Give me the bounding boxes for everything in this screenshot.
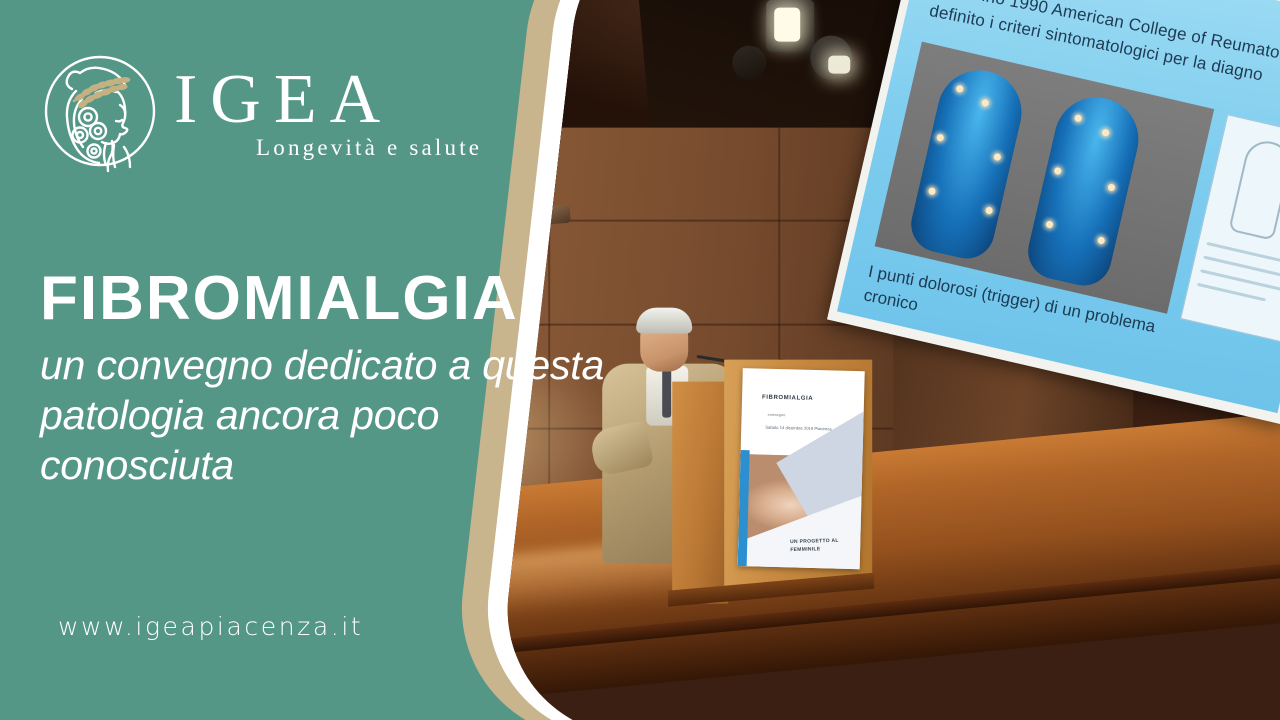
website-url[interactable]: www.igeapiacenza.it bbox=[58, 612, 363, 641]
podium-poster-subtitle: convegno bbox=[768, 413, 786, 417]
podium: FIBROMIALGIA convegno Sabato 14 dicembre… bbox=[672, 360, 868, 610]
ceiling-fixture-icon bbox=[732, 46, 766, 80]
stage-light-icon-2 bbox=[828, 56, 850, 74]
body-figure-front-icon bbox=[906, 62, 1030, 264]
body-figure-back-icon bbox=[1023, 89, 1147, 291]
page-subtitle: un convegno dedicato a questa patologia … bbox=[40, 340, 620, 490]
page-title: FIBROMIALGIA bbox=[40, 268, 620, 330]
podium-poster: FIBROMIALGIA convegno Sabato 14 dicembre… bbox=[738, 368, 865, 569]
stage-light-icon bbox=[774, 8, 800, 42]
headline-group: FIBROMIALGIA un convegno dedicato a ques… bbox=[40, 268, 620, 490]
goddess-profile-wheat-crown-icon bbox=[36, 47, 164, 175]
podium-poster-footer: UN PROGETTO AL FEMMINILE bbox=[790, 537, 856, 554]
brand-logo[interactable]: IGEA Longevità e salute bbox=[36, 46, 436, 176]
brand-name: IGEA bbox=[168, 67, 482, 134]
podium-poster-title: FIBROMIALGIA bbox=[762, 395, 813, 402]
podium-poster-detail: Sabato 14 dicembre 2019 Piacenza bbox=[765, 425, 845, 433]
poster-canvas: Nell'anno 1990 American College of Reuma… bbox=[0, 0, 1280, 720]
content-column: IGEA Longevità e salute FIBROMIALGIA un … bbox=[0, 0, 650, 720]
brand-tagline: Longevità e salute bbox=[256, 135, 482, 161]
